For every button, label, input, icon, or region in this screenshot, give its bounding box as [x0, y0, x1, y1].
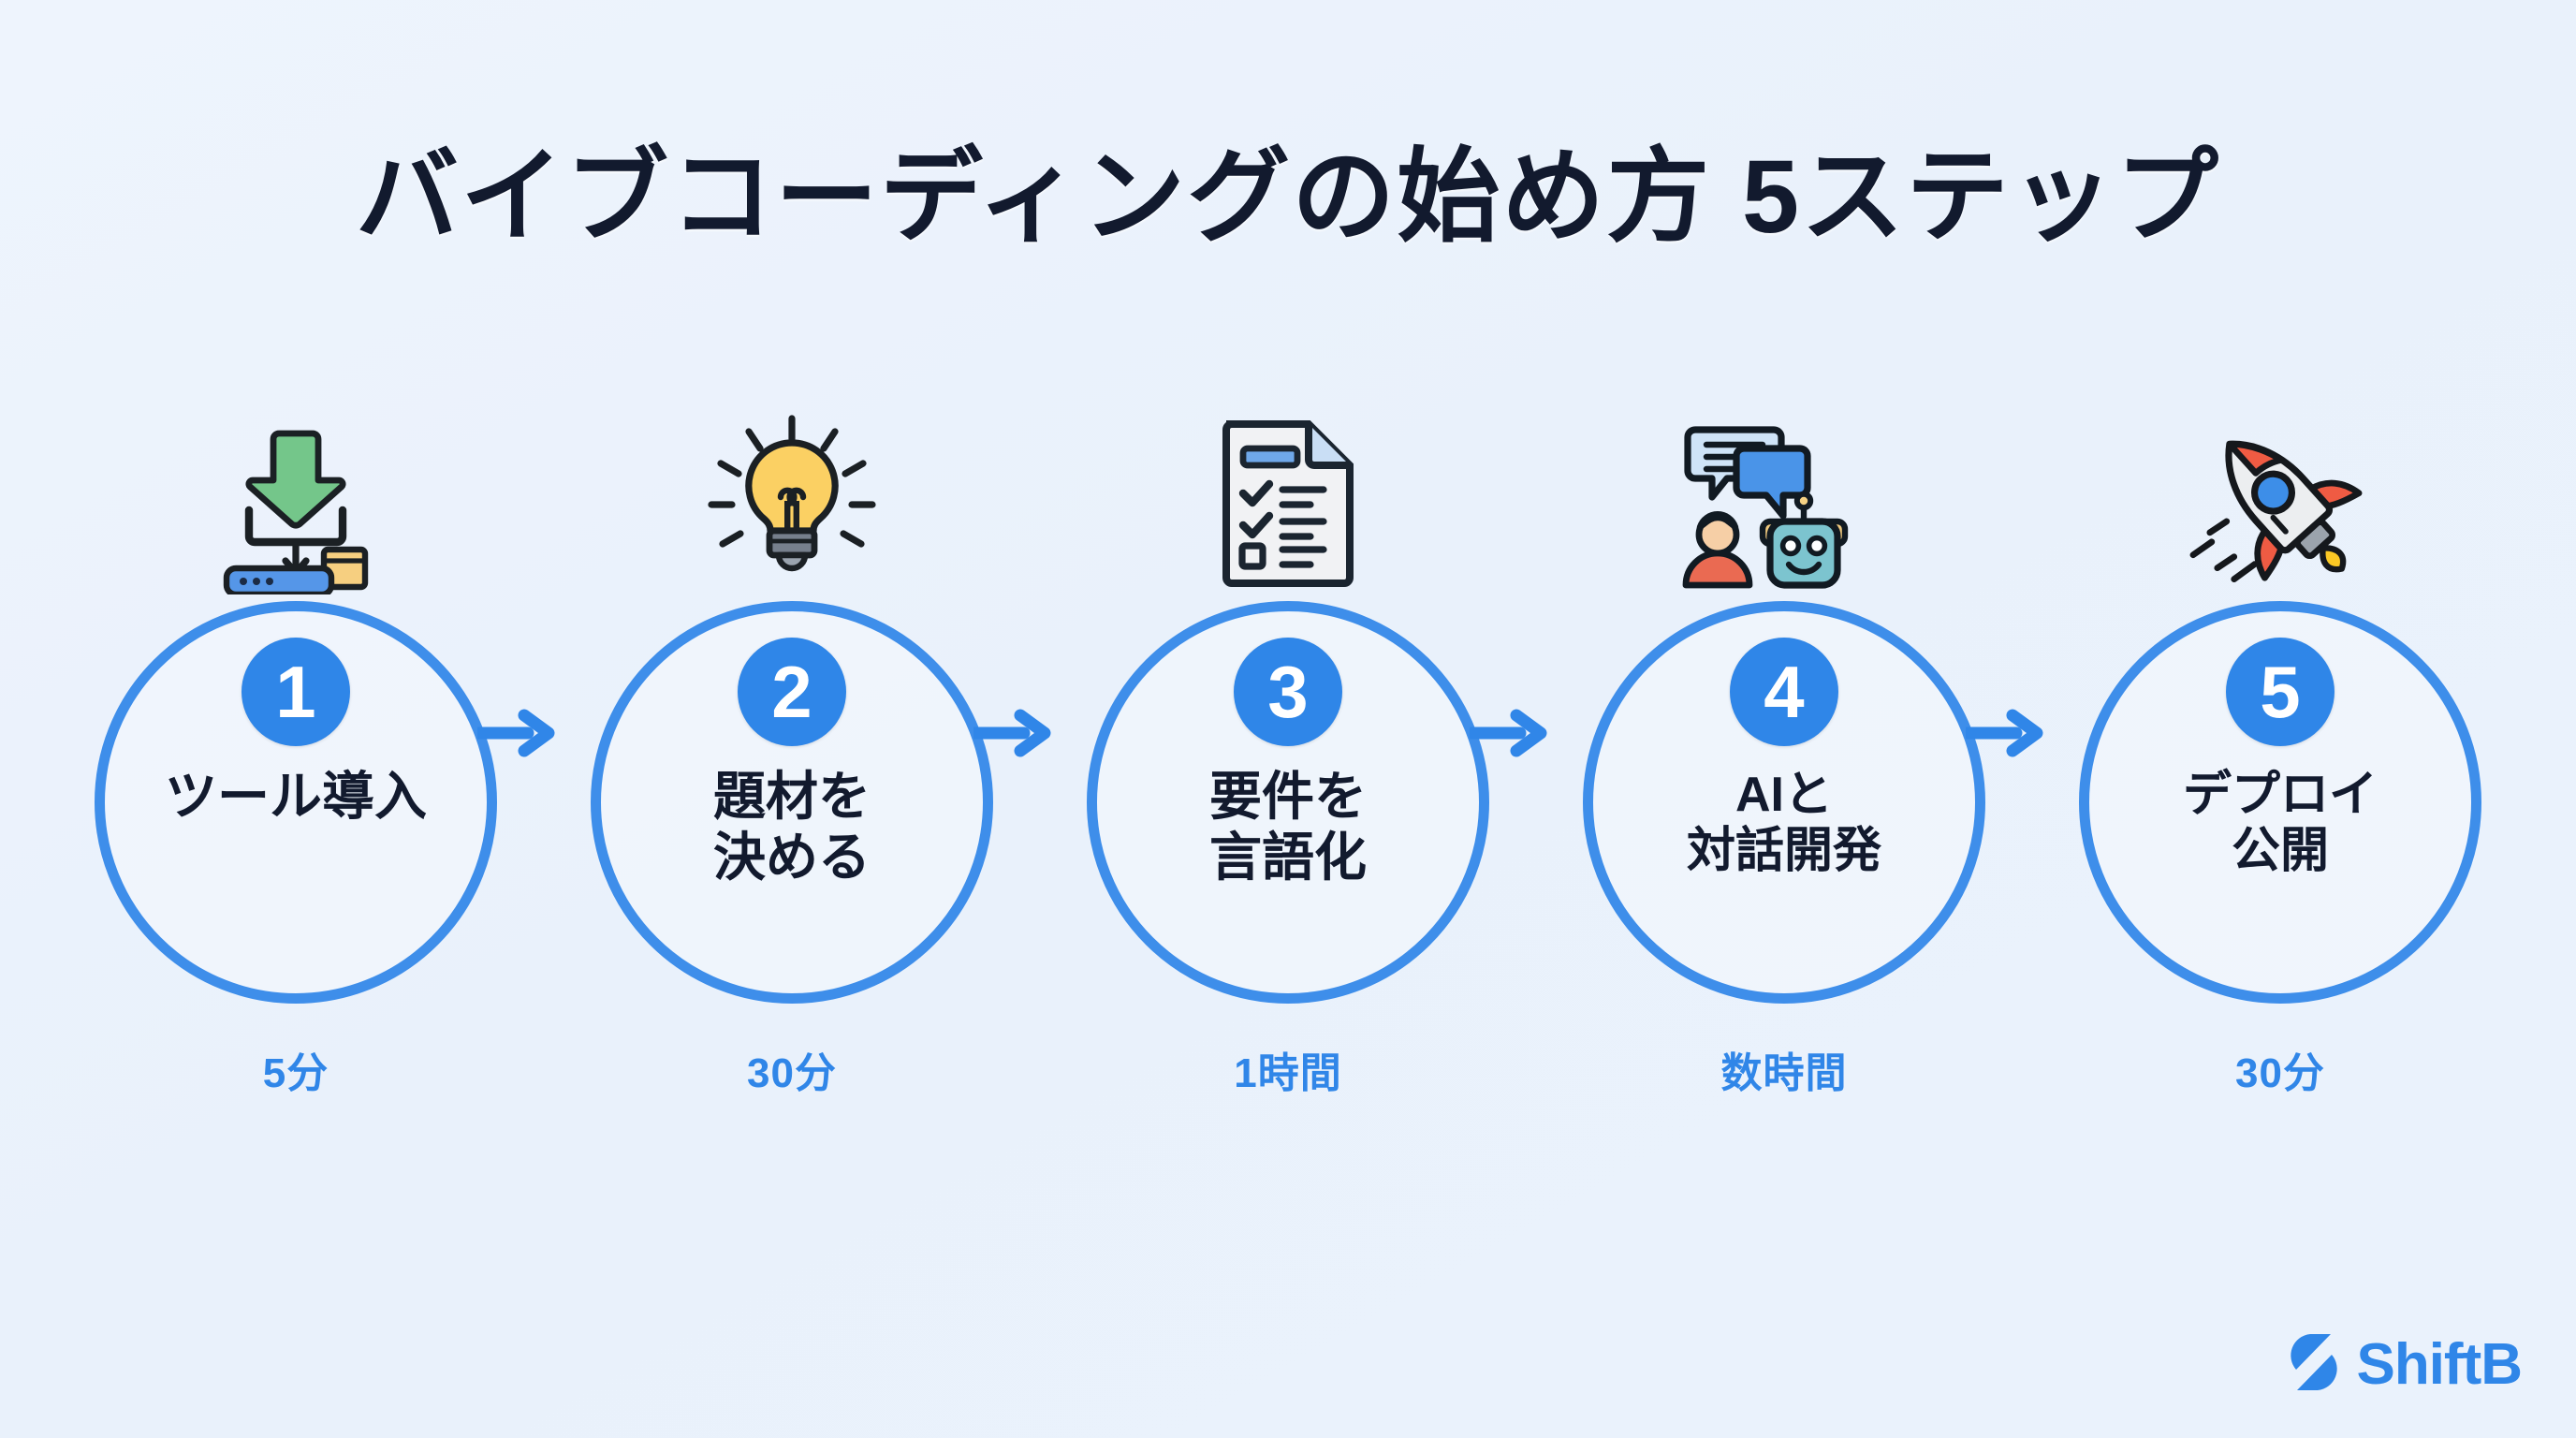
- step-label: 要件を 言語化: [1196, 767, 1380, 888]
- step-number-badge: 2: [738, 638, 846, 746]
- step-label: デプロイ 公開: [2170, 767, 2391, 880]
- step-duration: 数時間: [1721, 1039, 1848, 1099]
- arrow-right-icon: [1964, 700, 2048, 766]
- step-duration: 30分: [2235, 1039, 2325, 1099]
- step-number-badge: 5: [2226, 638, 2334, 746]
- step-label: 題材を 決める: [700, 767, 884, 888]
- rocket-icon: [2173, 403, 2388, 599]
- step-item-2: 2 題材を 決める 30分: [580, 403, 1003, 1170]
- step-duration: 1時間: [1234, 1039, 1341, 1099]
- step-circle-1[interactable]: 1 ツール導入: [95, 601, 497, 1004]
- step-number-badge: 4: [1730, 638, 1838, 746]
- arrow-right-icon: [1468, 700, 1552, 766]
- step-number-badge: 3: [1234, 638, 1342, 746]
- shiftb-logo[interactable]: ShiftB: [2285, 1330, 2522, 1399]
- step-circle-5[interactable]: 5 デプロイ 公開: [2079, 601, 2481, 1004]
- lightbulb-icon: [684, 403, 900, 599]
- human-robot-chat-icon: [1676, 403, 1892, 599]
- steps-row: 1 ツール導入 5分: [84, 403, 2492, 1170]
- step-item-3: 3 要件を 言語化 1時間: [1076, 403, 1500, 1170]
- arrow-right-icon: [476, 700, 560, 766]
- step-number-badge: 1: [241, 638, 350, 746]
- shiftb-logo-text: ShiftB: [2356, 1331, 2522, 1398]
- step-item-4: 4 AIと 対話開発 数時間: [1573, 403, 1996, 1170]
- download-install-icon: [188, 403, 403, 599]
- page-title: バイブコーディングの始め方 5ステップ: [0, 112, 2576, 262]
- step-duration: 5分: [263, 1039, 329, 1099]
- checklist-document-icon: [1180, 403, 1396, 599]
- step-circle-4[interactable]: 4 AIと 対話開発: [1583, 601, 1985, 1004]
- step-label: AIと 対話開発: [1674, 767, 1895, 880]
- step-circle-3[interactable]: 3 要件を 言語化: [1087, 601, 1489, 1004]
- step-item-5: 5 デプロイ 公開 30分: [2069, 403, 2492, 1170]
- step-circle-2[interactable]: 2 題材を 決める: [591, 601, 993, 1004]
- step-duration: 30分: [747, 1039, 837, 1099]
- shiftb-s-mark-icon: [2285, 1330, 2343, 1399]
- step-label: ツール導入: [152, 767, 440, 828]
- step-item-1: 1 ツール導入 5分: [84, 403, 507, 1170]
- arrow-right-icon: [972, 700, 1056, 766]
